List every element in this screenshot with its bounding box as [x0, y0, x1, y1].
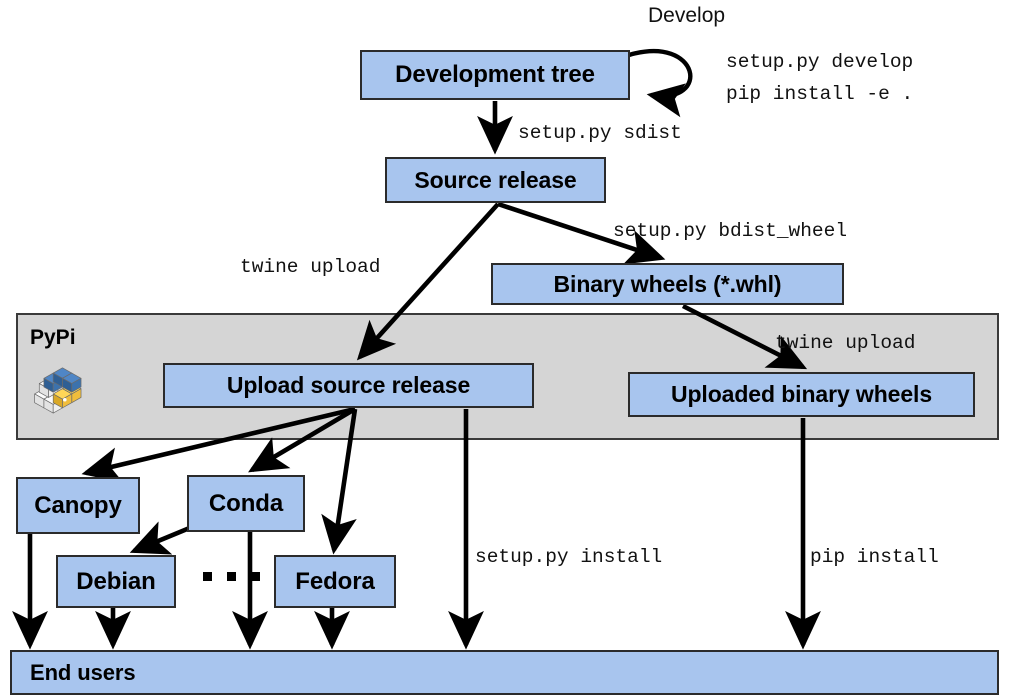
edge-label-setup-py-sdist: setup.py sdist	[518, 122, 682, 144]
edge-label-develop: Develop	[648, 4, 725, 28]
edge-label-setup-py-bdist-wheel: setup.py bdist_wheel	[613, 220, 847, 242]
ellipsis-dot	[227, 572, 236, 581]
node-conda[interactable]: Conda	[187, 475, 305, 532]
node-upload-source-release[interactable]: Upload source release	[163, 363, 534, 408]
edge-label-setup-py-install: setup.py install	[475, 546, 662, 568]
edge-uploadsrc-to-canopy	[86, 409, 355, 473]
diagram-canvas: PyPi	[0, 0, 1009, 698]
node-binary-wheels[interactable]: Binary wheels (*.whl)	[491, 263, 844, 305]
edge-conda-to-debian	[134, 527, 192, 551]
edge-develop-self-loop	[629, 51, 690, 96]
pypi-logo-icon	[30, 358, 88, 416]
node-source-release[interactable]: Source release	[385, 157, 606, 203]
edge-uploadsrc-to-conda	[252, 409, 355, 470]
edge-source-to-upload-src	[360, 204, 498, 357]
node-development-tree[interactable]: Development tree	[360, 50, 630, 100]
edge-uploadsrc-to-fedora	[334, 409, 355, 550]
node-debian[interactable]: Debian	[56, 555, 176, 608]
edge-label-pip-install-e: pip install -e .	[726, 83, 913, 105]
ellipsis-dot	[203, 572, 212, 581]
edge-label-twine-upload-wheels: twine upload	[775, 332, 915, 354]
edge-label-twine-upload-source: twine upload	[240, 256, 380, 278]
pypi-panel-title: PyPi	[30, 326, 76, 350]
edge-label-pip-install: pip install	[810, 546, 939, 568]
node-uploaded-binary-wheels[interactable]: Uploaded binary wheels	[628, 372, 975, 417]
node-canopy[interactable]: Canopy	[16, 477, 140, 534]
edge-label-setup-py-develop: setup.py develop	[726, 51, 913, 73]
node-end-users[interactable]: End users	[10, 650, 999, 695]
more-distros-ellipsis	[203, 572, 260, 581]
node-fedora[interactable]: Fedora	[274, 555, 396, 608]
ellipsis-dot	[251, 572, 260, 581]
